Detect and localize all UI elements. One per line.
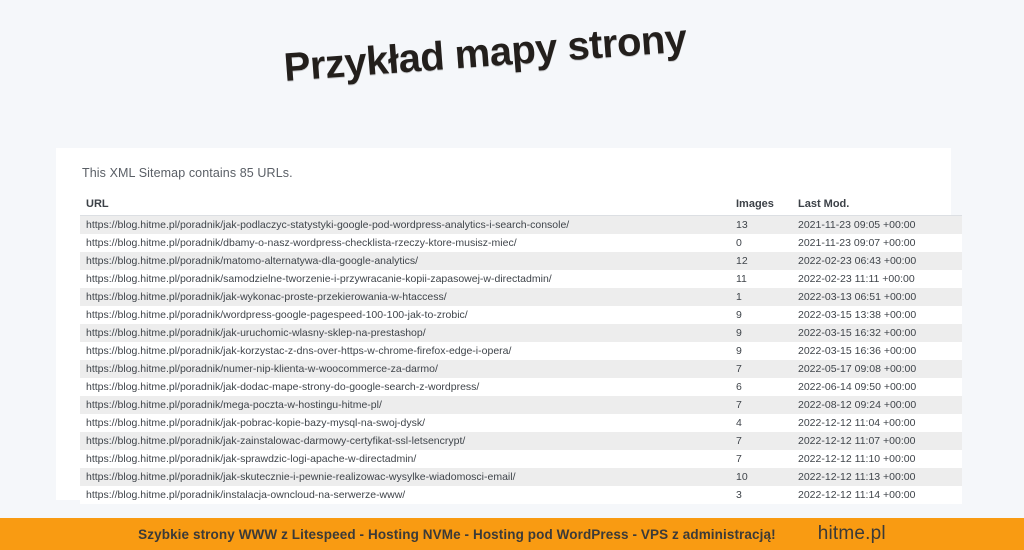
page-title: Przykład mapy strony <box>282 17 688 91</box>
cell-lastmod: 2022-12-12 11:07 +00:00 <box>792 432 962 450</box>
cell-lastmod: 2022-12-12 11:14 +00:00 <box>792 486 962 504</box>
column-header-images[interactable]: Images <box>730 198 792 216</box>
table-row[interactable]: https://blog.hitme.pl/poradnik/jak-uruch… <box>80 324 962 342</box>
table-row[interactable]: https://blog.hitme.pl/poradnik/jak-korzy… <box>80 342 962 360</box>
cell-lastmod: 2022-03-13 06:51 +00:00 <box>792 288 962 306</box>
table-row[interactable]: https://blog.hitme.pl/poradnik/jak-dodac… <box>80 378 962 396</box>
cell-images: 0 <box>730 234 792 252</box>
table-row[interactable]: https://blog.hitme.pl/poradnik/matomo-al… <box>80 252 962 270</box>
cell-images: 4 <box>730 414 792 432</box>
cell-url[interactable]: https://blog.hitme.pl/poradnik/jak-korzy… <box>80 342 730 360</box>
cell-url[interactable]: https://blog.hitme.pl/poradnik/numer-nip… <box>80 360 730 378</box>
sitemap-table-header: URL Images Last Mod. <box>80 198 962 216</box>
table-row[interactable]: https://blog.hitme.pl/poradnik/mega-pocz… <box>80 396 962 414</box>
cell-url[interactable]: https://blog.hitme.pl/poradnik/jak-pobra… <box>80 414 730 432</box>
cell-images: 12 <box>730 252 792 270</box>
sitemap-table: URL Images Last Mod. https://blog.hitme.… <box>80 198 962 504</box>
cell-images: 9 <box>730 306 792 324</box>
cell-images: 3 <box>730 486 792 504</box>
table-row[interactable]: https://blog.hitme.pl/poradnik/numer-nip… <box>80 360 962 378</box>
cell-url[interactable]: https://blog.hitme.pl/poradnik/jak-zains… <box>80 432 730 450</box>
table-row[interactable]: https://blog.hitme.pl/poradnik/samodziel… <box>80 270 962 288</box>
cell-url[interactable]: https://blog.hitme.pl/poradnik/jak-podla… <box>80 216 730 235</box>
table-row[interactable]: https://blog.hitme.pl/poradnik/instalacj… <box>80 486 962 504</box>
cell-images: 11 <box>730 270 792 288</box>
cell-lastmod: 2022-08-12 09:24 +00:00 <box>792 396 962 414</box>
page-heading-area: Przykład mapy strony <box>0 0 1024 140</box>
cell-images: 1 <box>730 288 792 306</box>
table-row[interactable]: https://blog.hitme.pl/poradnik/wordpress… <box>80 306 962 324</box>
cell-lastmod: 2022-06-14 09:50 +00:00 <box>792 378 962 396</box>
cell-lastmod: 2022-12-12 11:10 +00:00 <box>792 450 962 468</box>
cell-lastmod: 2022-03-15 16:36 +00:00 <box>792 342 962 360</box>
footer-tagline: Szybkie strony WWW z Litespeed - Hosting… <box>138 527 776 542</box>
cell-lastmod: 2021-11-23 09:07 +00:00 <box>792 234 962 252</box>
cell-lastmod: 2022-03-15 16:32 +00:00 <box>792 324 962 342</box>
cell-images: 6 <box>730 378 792 396</box>
cell-images: 13 <box>730 216 792 235</box>
cell-images: 7 <box>730 432 792 450</box>
cell-lastmod: 2022-02-23 06:43 +00:00 <box>792 252 962 270</box>
cell-url[interactable]: https://blog.hitme.pl/poradnik/samodziel… <box>80 270 730 288</box>
cell-url[interactable]: https://blog.hitme.pl/poradnik/dbamy-o-n… <box>80 234 730 252</box>
cell-images: 7 <box>730 450 792 468</box>
table-row[interactable]: https://blog.hitme.pl/poradnik/jak-wykon… <box>80 288 962 306</box>
column-header-lastmod[interactable]: Last Mod. <box>792 198 962 216</box>
cell-url[interactable]: https://blog.hitme.pl/poradnik/jak-dodac… <box>80 378 730 396</box>
table-row[interactable]: https://blog.hitme.pl/poradnik/jak-zains… <box>80 432 962 450</box>
cell-url[interactable]: https://blog.hitme.pl/poradnik/wordpress… <box>80 306 730 324</box>
table-row[interactable]: https://blog.hitme.pl/poradnik/jak-pobra… <box>80 414 962 432</box>
cell-images: 9 <box>730 342 792 360</box>
cell-url[interactable]: https://blog.hitme.pl/poradnik/jak-uruch… <box>80 324 730 342</box>
cell-images: 7 <box>730 396 792 414</box>
cell-images: 9 <box>730 324 792 342</box>
sitemap-table-body: https://blog.hitme.pl/poradnik/jak-podla… <box>80 216 962 505</box>
cell-images: 7 <box>730 360 792 378</box>
cell-lastmod: 2022-05-17 09:08 +00:00 <box>792 360 962 378</box>
cell-url[interactable]: https://blog.hitme.pl/poradnik/instalacj… <box>80 486 730 504</box>
cell-url[interactable]: https://blog.hitme.pl/poradnik/matomo-al… <box>80 252 730 270</box>
cell-lastmod: 2022-03-15 13:38 +00:00 <box>792 306 962 324</box>
table-row[interactable]: https://blog.hitme.pl/poradnik/jak-skute… <box>80 468 962 486</box>
cell-url[interactable]: https://blog.hitme.pl/poradnik/jak-wykon… <box>80 288 730 306</box>
cell-url[interactable]: https://blog.hitme.pl/poradnik/jak-spraw… <box>80 450 730 468</box>
footer-logo: hitme.pl <box>818 523 886 545</box>
footer-banner: Szybkie strony WWW z Litespeed - Hosting… <box>0 518 1024 550</box>
sitemap-card: This XML Sitemap contains 85 URLs. URL I… <box>56 148 951 500</box>
table-row[interactable]: https://blog.hitme.pl/poradnik/dbamy-o-n… <box>80 234 962 252</box>
cell-lastmod: 2022-12-12 11:13 +00:00 <box>792 468 962 486</box>
cell-lastmod: 2021-11-23 09:05 +00:00 <box>792 216 962 235</box>
cell-lastmod: 2022-02-23 11:11 +00:00 <box>792 270 962 288</box>
table-row[interactable]: https://blog.hitme.pl/poradnik/jak-spraw… <box>80 450 962 468</box>
cell-lastmod: 2022-12-12 11:04 +00:00 <box>792 414 962 432</box>
cell-images: 10 <box>730 468 792 486</box>
cell-url[interactable]: https://blog.hitme.pl/poradnik/jak-skute… <box>80 468 730 486</box>
table-header-row: URL Images Last Mod. <box>80 198 962 216</box>
sitemap-summary-text: This XML Sitemap contains 85 URLs. <box>82 166 927 180</box>
column-header-url[interactable]: URL <box>80 198 730 216</box>
table-row[interactable]: https://blog.hitme.pl/poradnik/jak-podla… <box>80 216 962 235</box>
cell-url[interactable]: https://blog.hitme.pl/poradnik/mega-pocz… <box>80 396 730 414</box>
